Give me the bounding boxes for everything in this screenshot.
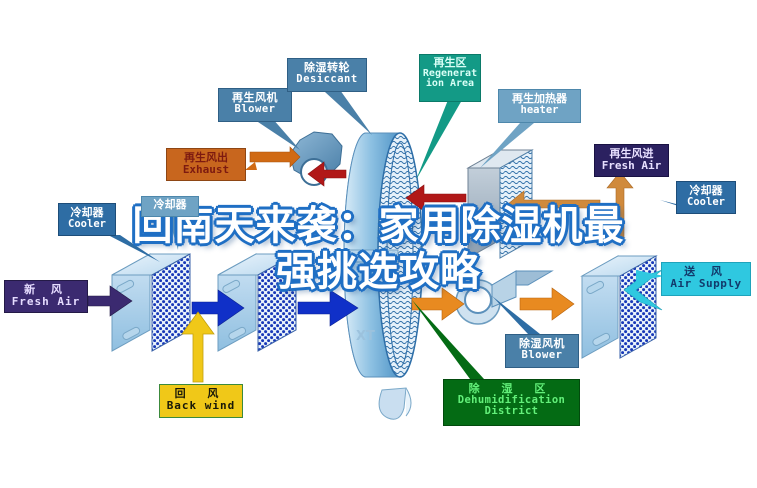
label-regen-air-out-cn: 再生风出: [167, 152, 245, 164]
label-dehumid-blower[interactable]: 除湿风机 Blower: [505, 334, 579, 368]
label-cooler-left-2[interactable]: 冷却器: [141, 196, 199, 217]
dehumid-fan: [456, 271, 552, 324]
label-regen-area[interactable]: 再生区 Regeneration Area: [419, 54, 481, 102]
label-regen-air-in-en: Fresh Air: [595, 160, 668, 172]
dehumidifier-schematic-svg: XT: [0, 0, 757, 488]
label-dehumid-district-cn: 除 湿 区: [444, 383, 579, 395]
regen-fresh-in-arrow: [508, 191, 600, 217]
label-cooler-left-1-en: Cooler: [59, 219, 115, 230]
label-back-wind-cn: 回 风: [160, 388, 242, 400]
exhaust-arrow: [245, 147, 300, 170]
label-fresh-air-in-en: Fresh Air: [5, 296, 87, 308]
label-fresh-air-in[interactable]: 新 风 Fresh Air: [4, 280, 88, 313]
label-regen-blower-cn: 再生风机: [219, 92, 291, 104]
label-regen-heater-cn: 再生加热器: [499, 93, 580, 105]
label-regen-heater-en: heater: [499, 105, 580, 116]
label-cooler-right-en: Cooler: [677, 197, 735, 208]
label-fresh-air-in-cn: 新 风: [5, 284, 87, 296]
label-air-supply-cn: 送 风: [662, 266, 750, 278]
label-air-supply-en: Air Supply: [662, 278, 750, 290]
label-regen-blower[interactable]: 再生风机 Blower: [218, 88, 292, 122]
label-regen-heater[interactable]: 再生加热器 heater: [498, 89, 581, 123]
label-back-wind[interactable]: 回 风 Back wind: [159, 384, 243, 418]
cooler-coil-3: [582, 256, 656, 358]
label-desiccant-wheel[interactable]: 除湿转轮 Desiccant: [287, 58, 367, 92]
label-desiccant-wheel-en: Desiccant: [288, 74, 366, 85]
label-regen-air-out[interactable]: 再生风出 Exhaust: [166, 148, 246, 181]
drain-tray: [379, 388, 411, 419]
label-air-supply[interactable]: 送 风 Air Supply: [661, 262, 751, 296]
diagram-canvas: XT: [0, 0, 757, 488]
label-regen-air-in-cn: 再生风进: [595, 148, 668, 160]
label-cooler-right-cn: 冷却器: [677, 185, 735, 197]
watermark-text: XT: [356, 329, 375, 344]
label-dehumid-district[interactable]: 除 湿 区 Dehumidification District: [443, 379, 580, 426]
label-cooler-right[interactable]: 冷却器 Cooler: [676, 181, 736, 214]
label-dehumid-blower-en: Blower: [506, 350, 578, 361]
label-dehumid-blower-cn: 除湿风机: [506, 338, 578, 350]
label-cooler-left-1-cn: 冷却器: [59, 207, 115, 219]
label-cooler-left-2-cn: 冷却器: [142, 199, 198, 211]
label-regen-area-en: Regeneration Area: [420, 69, 480, 90]
process-out-arrow-2: [520, 288, 574, 320]
label-back-wind-en: Back wind: [160, 400, 242, 412]
label-regen-air-out-en: Exhaust: [167, 164, 245, 176]
label-regen-blower-en: Blower: [219, 104, 291, 115]
label-regen-air-in[interactable]: 再生风进 Fresh Air: [594, 144, 669, 177]
desiccant-rotor: XT: [342, 133, 422, 377]
label-cooler-left-1[interactable]: 冷却器 Cooler: [58, 203, 116, 236]
label-dehumid-district-en: Dehumidification District: [444, 395, 579, 417]
regen-fresh-up-arrow: [607, 172, 633, 240]
label-regen-area-cn: 再生区: [420, 57, 480, 69]
label-desiccant-wheel-cn: 除湿转轮: [288, 62, 366, 74]
